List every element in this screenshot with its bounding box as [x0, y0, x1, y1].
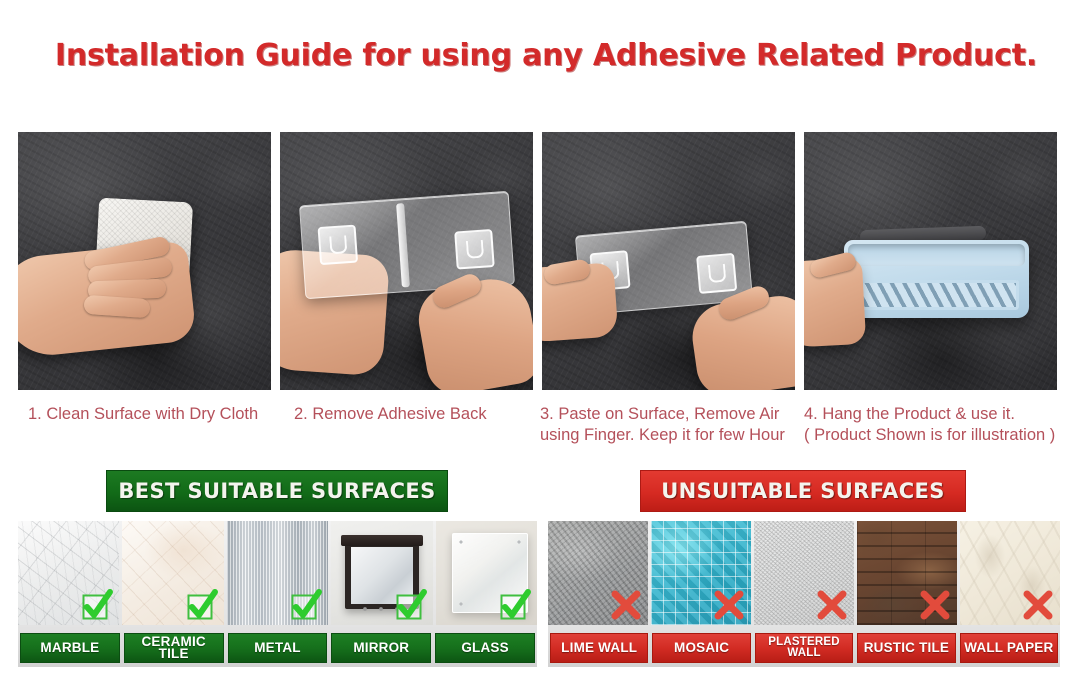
surface-swatch-mirror — [331, 521, 432, 625]
step-photo-row — [18, 132, 1058, 390]
step-caption-1: 1. Clean Surface with Dry Cloth — [28, 404, 258, 425]
green-check-icon — [81, 589, 113, 621]
red-cross-icon — [919, 589, 951, 621]
surface-label-metal: METAL — [228, 633, 328, 663]
surface-swatch-ceramic-tile — [122, 521, 223, 625]
surface-swatch-glass — [436, 521, 537, 625]
suitable-swatch-row — [18, 521, 537, 625]
step-caption-3: 3. Paste on Surface, Remove Air using Fi… — [540, 404, 785, 446]
red-cross-icon — [816, 589, 848, 621]
unsuitable-label-row: LIME WALL MOSAIC PLASTERED WALL RUSTIC T… — [548, 625, 1060, 667]
installation-guide-infographic: Installation Guide for using any Adhesiv… — [0, 0, 1092, 681]
best-suitable-surfaces-banner: BEST SUITABLE SURFACES — [106, 470, 448, 512]
surface-label-marble: MARBLE — [20, 633, 120, 663]
surface-label-glass: GLASS — [435, 633, 535, 663]
unsuitable-surfaces-group: LIME WALL MOSAIC PLASTERED WALL RUSTIC T… — [548, 521, 1060, 667]
surface-swatch-rustic-tile — [857, 521, 957, 625]
caddy-rim — [848, 244, 1025, 266]
hook-pad — [696, 253, 737, 294]
step-caption-4: 4. Hang the Product & use it. ( Product … — [804, 404, 1055, 446]
unsuitable-surfaces-banner: UNSUITABLE SURFACES — [640, 470, 966, 512]
step-caption-row: 1. Clean Surface with Dry Cloth 2. Remov… — [18, 404, 1078, 454]
suitable-surfaces-group: MARBLE CERAMIC TILE METAL MIRROR GLASS — [18, 521, 537, 667]
caddy-drain-slots — [854, 280, 1019, 310]
green-check-icon — [395, 589, 427, 621]
unsuitable-swatch-row — [548, 521, 1060, 625]
green-check-icon — [186, 589, 218, 621]
surface-label-plastered-wall: PLASTERED WALL — [755, 633, 853, 663]
surface-label-ceramic-tile: CERAMIC TILE — [124, 633, 224, 663]
surface-swatch-metal — [227, 521, 328, 625]
surface-label-mirror: MIRROR — [331, 633, 431, 663]
hook-pad — [454, 229, 495, 270]
hook-pad — [318, 225, 359, 266]
green-check-icon — [290, 589, 322, 621]
suitable-label-row: MARBLE CERAMIC TILE METAL MIRROR GLASS — [18, 625, 537, 667]
red-cross-icon — [1022, 589, 1054, 621]
surface-swatch-marble — [18, 521, 119, 625]
step-photo-3-paste-on-surface — [542, 132, 795, 390]
blue-shower-caddy — [844, 240, 1029, 318]
red-cross-icon — [610, 589, 642, 621]
page-title: Installation Guide for using any Adhesiv… — [0, 38, 1092, 73]
surface-swatch-mosaic — [651, 521, 751, 625]
step-photo-1-clean-surface — [18, 132, 271, 390]
surface-label-rustic-tile: RUSTIC TILE — [857, 633, 955, 663]
surface-label-lime-wall: LIME WALL — [550, 633, 648, 663]
mirror-top-shelf — [341, 535, 423, 546]
surface-label-wall-paper: WALL PAPER — [960, 633, 1058, 663]
step-photo-4-hang-product — [804, 132, 1057, 390]
green-check-icon — [499, 589, 531, 621]
surface-label-mosaic: MOSAIC — [652, 633, 750, 663]
surface-swatch-wall-paper — [960, 521, 1060, 625]
red-cross-icon — [713, 589, 745, 621]
peel-tab — [396, 203, 410, 287]
surface-swatch-plastered-wall — [754, 521, 854, 625]
surface-swatch-lime-wall — [548, 521, 648, 625]
step-caption-2: 2. Remove Adhesive Back — [294, 404, 487, 425]
step-photo-2-remove-adhesive-back — [280, 132, 533, 390]
